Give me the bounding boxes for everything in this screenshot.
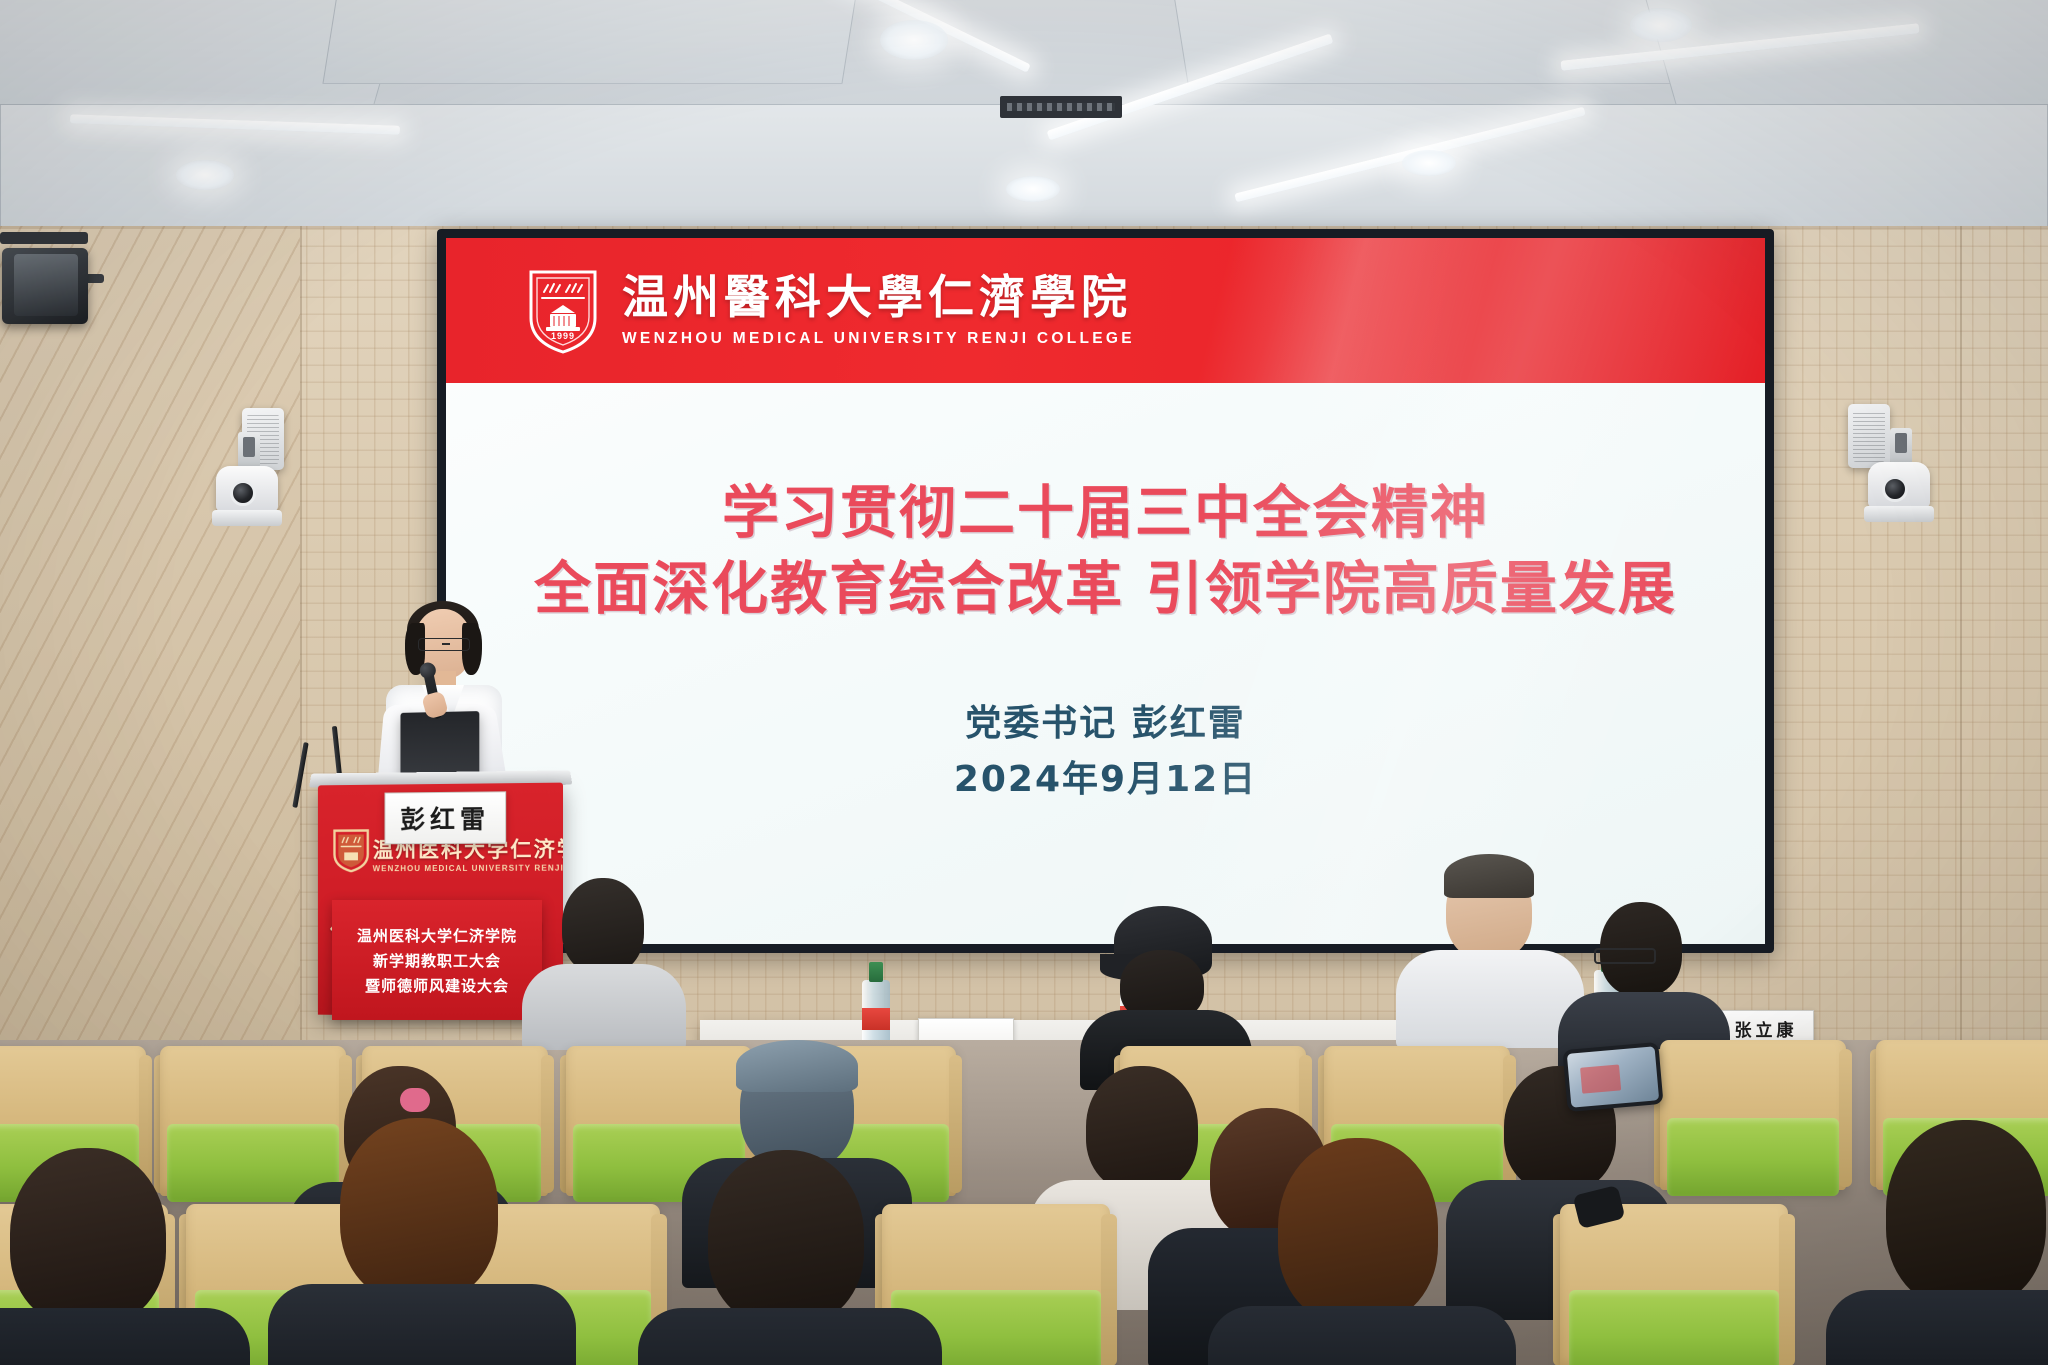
camera-lens-icon bbox=[230, 480, 256, 506]
audience-person-foreground bbox=[0, 1148, 220, 1365]
lectern-crest-icon bbox=[332, 828, 371, 872]
person-shoulders bbox=[1208, 1306, 1516, 1365]
camera-mount bbox=[1890, 428, 1912, 464]
ptz-camera-left bbox=[208, 432, 288, 528]
person-shoulders bbox=[0, 1308, 250, 1365]
person-head bbox=[562, 878, 644, 974]
person-head bbox=[708, 1150, 864, 1326]
hair-clip bbox=[400, 1088, 430, 1112]
person-hair bbox=[1444, 854, 1534, 898]
lectern-institution-en: WENZHOU MEDICAL UNIVERSITY RENJI COLLEGE bbox=[373, 863, 563, 873]
slide-body: 学习贯彻二十届三中全会精神 全面深化教育综合改革 引领学院高质量发展 党委书记 … bbox=[446, 383, 1765, 944]
bottle-cap bbox=[869, 962, 883, 982]
person-shoulders bbox=[268, 1284, 576, 1365]
banner-line-1: 温州医科大学仁济学院 bbox=[357, 925, 517, 946]
head-covering bbox=[736, 1040, 858, 1092]
ceiling-panel bbox=[322, 0, 857, 84]
seat-backrest bbox=[1660, 1040, 1846, 1190]
camera-mount bbox=[238, 432, 260, 468]
person-head bbox=[1886, 1120, 2046, 1308]
slide-header-text: 温州醫科大學仁濟學院 WENZHOU MEDICAL UNIVERSITY RE… bbox=[622, 273, 1135, 347]
seat-cushion bbox=[1569, 1290, 1779, 1365]
person-shoulders bbox=[522, 964, 686, 1050]
audience-person bbox=[1408, 862, 1568, 1042]
wall-seam bbox=[300, 226, 302, 1046]
audience-person-foreground bbox=[296, 1118, 546, 1365]
ceiling-vent bbox=[1000, 96, 1122, 118]
ceiling-downlight bbox=[1402, 150, 1456, 176]
wall-seam bbox=[1960, 226, 1962, 1046]
ceiling-panel bbox=[1172, 0, 1707, 84]
seat-armrest bbox=[1839, 1049, 1852, 1187]
person-shoulders bbox=[1826, 1290, 2048, 1365]
phone-screen bbox=[1567, 1046, 1659, 1107]
person-shoulders bbox=[638, 1308, 942, 1365]
speaker-nameplate-text: 彭红雷 bbox=[400, 800, 490, 837]
projection-screen: 1999 温州醫科大學仁濟學院 WENZHOU MEDICAL UNIVERSI… bbox=[437, 229, 1774, 953]
university-crest-icon: 1999 bbox=[526, 268, 600, 354]
slide-title-line-2: 全面深化教育综合改革 引领学院高质量发展 bbox=[534, 555, 1677, 625]
audience-person-foreground bbox=[1856, 1120, 2048, 1365]
screen-surface: 1999 温州醫科大學仁濟學院 WENZHOU MEDICAL UNIVERSI… bbox=[446, 238, 1765, 944]
slide-date: 2024年9月12日 bbox=[954, 752, 1257, 808]
person-head bbox=[1278, 1138, 1438, 1324]
spotlight-head bbox=[2, 248, 88, 324]
slide-title-line-1: 学习贯彻二十届三中全会精神 bbox=[722, 479, 1489, 549]
ceiling-downlight bbox=[1630, 8, 1692, 42]
conference-hall-photo: 1999 温州醫科大學仁濟學院 WENZHOU MEDICAL UNIVERSI… bbox=[0, 0, 2048, 1365]
slide-header-banner: 1999 温州醫科大學仁濟學院 WENZHOU MEDICAL UNIVERSI… bbox=[446, 238, 1765, 383]
bottle-label bbox=[862, 1008, 890, 1030]
svg-text:1999: 1999 bbox=[551, 331, 575, 341]
person-head bbox=[10, 1148, 166, 1326]
person-head bbox=[340, 1118, 498, 1302]
seat-backrest bbox=[1560, 1204, 1788, 1365]
presentation-slide: 1999 温州醫科大學仁濟學院 WENZHOU MEDICAL UNIVERSI… bbox=[446, 238, 1765, 944]
ceiling bbox=[0, 0, 2048, 232]
speaker-nameplate: 彭红雷 bbox=[384, 791, 506, 844]
seat-armrest bbox=[949, 1055, 962, 1193]
banner-line-3: 暨师德师风建设大会 bbox=[365, 975, 509, 996]
audience-person-foreground bbox=[1236, 1138, 1486, 1365]
auditorium-seat[interactable] bbox=[1660, 1040, 1846, 1190]
banner-line-2: 新学期教职工大会 bbox=[373, 950, 501, 971]
seat-armrest bbox=[1101, 1214, 1117, 1365]
seat-cushion bbox=[1667, 1118, 1838, 1196]
ceiling-downlight bbox=[880, 20, 948, 60]
presenter-glasses bbox=[418, 638, 470, 651]
ptz-camera-right bbox=[1860, 428, 1940, 524]
institution-name-en: WENZHOU MEDICAL UNIVERSITY RENJI COLLEGE bbox=[622, 330, 1135, 348]
audience-person-cap bbox=[1090, 906, 1240, 1066]
slide-presenter: 党委书记 彭红雷 bbox=[954, 696, 1257, 752]
stage-backdrop-banner: 温州医科大学仁济学院 新学期教职工大会 暨师德师风建设大会 bbox=[332, 900, 542, 1020]
ceiling-downlight bbox=[1006, 176, 1060, 202]
camera-base bbox=[1864, 506, 1934, 522]
spotlight-lens bbox=[14, 254, 78, 316]
auditorium-seat[interactable] bbox=[1560, 1204, 1788, 1365]
table-placard-name: 张立康 bbox=[1735, 1016, 1798, 1041]
person-glasses bbox=[1594, 948, 1656, 964]
camera-base bbox=[212, 510, 282, 526]
camera-lens-icon bbox=[1882, 476, 1908, 502]
ceiling-downlight bbox=[176, 160, 234, 190]
spotlight-barndoor bbox=[0, 232, 88, 244]
seat-armrest bbox=[1779, 1214, 1795, 1365]
audience-person bbox=[528, 878, 678, 1043]
water-bottle bbox=[862, 962, 890, 1046]
smartphone-recording[interactable] bbox=[1562, 1042, 1663, 1112]
slide-presenter-block: 党委书记 彭红雷 2024年9月12日 bbox=[954, 696, 1257, 808]
person-shoulders bbox=[1396, 950, 1584, 1048]
audience-person-foreground bbox=[664, 1150, 914, 1365]
institution-name-cn: 温州醫科大學仁濟學院 bbox=[622, 273, 1135, 321]
stage-spotlight bbox=[0, 230, 104, 352]
